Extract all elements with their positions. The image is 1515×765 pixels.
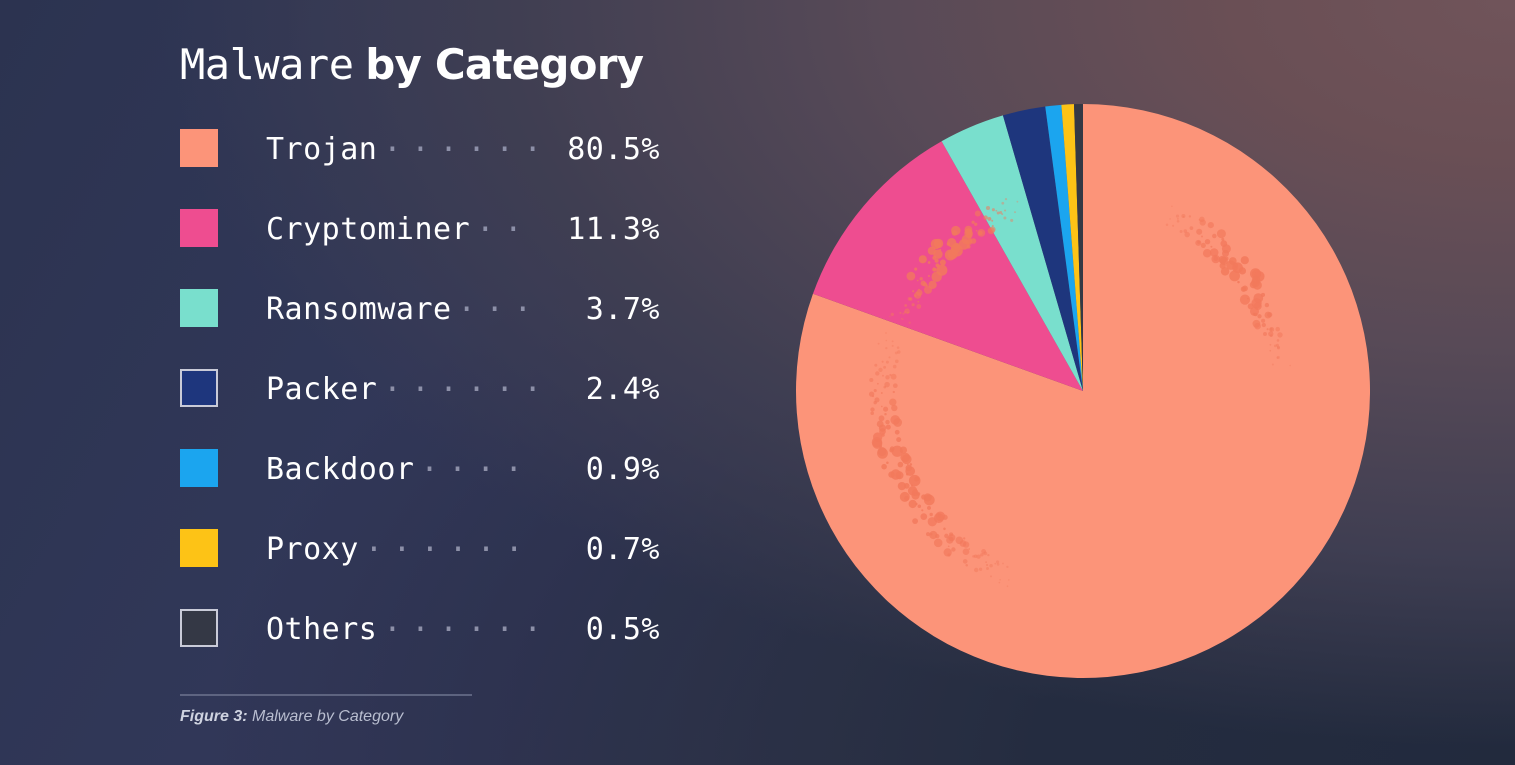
- legend-value: 0.5%: [542, 612, 660, 647]
- texture-dot: [1263, 332, 1267, 336]
- texture-dot: [895, 430, 900, 435]
- texture-dot: [899, 312, 901, 314]
- texture-dot: [928, 275, 930, 277]
- texture-dot: [947, 238, 956, 247]
- legend-label: Backdoor: [266, 452, 415, 487]
- texture-dot: [870, 411, 874, 415]
- texture-dot: [989, 564, 992, 567]
- texture-dot: [974, 554, 977, 557]
- legend-label: Proxy: [266, 532, 359, 567]
- texture-dot: [930, 513, 933, 516]
- texture-dot: [997, 212, 1000, 215]
- texture-dot: [979, 568, 982, 571]
- legend-dot-leader: [458, 289, 536, 319]
- texture-dot: [906, 465, 912, 471]
- texture-dot: [992, 208, 995, 211]
- texture-dot: [1253, 313, 1255, 315]
- texture-dot: [896, 437, 901, 442]
- legend-swatch-cryptominer: [180, 209, 218, 247]
- texture-dot: [909, 500, 917, 508]
- texture-dot: [886, 361, 889, 364]
- texture-dot: [901, 318, 903, 320]
- texture-dot: [888, 356, 890, 358]
- texture-dot: [997, 563, 1000, 566]
- pie-chart: [796, 104, 1370, 678]
- texture-dot: [889, 316, 891, 318]
- pie-chart-svg: [796, 104, 1370, 678]
- texture-dot: [883, 366, 886, 369]
- texture-dot: [1217, 229, 1226, 238]
- figure-caption: Figure 3: Malware by Category: [180, 708, 472, 726]
- texture-dot: [907, 272, 916, 281]
- texture-dot: [926, 532, 930, 536]
- texture-dot: [1267, 328, 1269, 330]
- texture-dot: [1270, 334, 1273, 337]
- texture-dot: [936, 263, 940, 267]
- texture-dot: [1181, 214, 1185, 218]
- texture-dot: [1274, 345, 1277, 348]
- legend-swatch-backdoor: [180, 449, 218, 487]
- texture-dot: [980, 553, 983, 556]
- texture-dot: [897, 346, 900, 349]
- texture-dot: [951, 226, 960, 235]
- texture-dot: [898, 462, 904, 468]
- texture-dot: [1250, 281, 1257, 288]
- texture-dot: [995, 210, 997, 212]
- legend-label: Packer: [266, 372, 377, 407]
- texture-dot: [949, 532, 953, 536]
- legend-value: 2.4%: [542, 372, 660, 407]
- legend-dot-leader: [476, 209, 536, 239]
- texture-dot: [874, 389, 877, 392]
- legend-label: Cryptominer: [266, 212, 470, 247]
- texture-dot: [1265, 312, 1272, 319]
- texture-dot: [870, 407, 874, 411]
- texture-dot: [885, 332, 887, 334]
- texture-dot: [912, 303, 915, 306]
- texture-dot: [916, 304, 921, 309]
- texture-dot: [928, 261, 931, 264]
- texture-dot: [919, 255, 927, 263]
- legend-row[interactable]: Packer2.4%: [180, 368, 660, 408]
- texture-dot: [956, 537, 964, 545]
- texture-dot: [895, 360, 899, 364]
- texture-dot: [996, 560, 999, 563]
- texture-dot: [885, 420, 889, 424]
- texture-dot: [895, 351, 898, 354]
- texture-dot: [1196, 229, 1202, 235]
- texture-dot: [1177, 220, 1180, 223]
- legend-text: Backdoor0.9%: [266, 449, 660, 487]
- texture-dot: [933, 249, 942, 258]
- texture-dot: [904, 308, 909, 313]
- texture-dot: [917, 301, 919, 303]
- texture-dot: [912, 290, 914, 292]
- texture-dot: [975, 211, 981, 217]
- texture-dot: [920, 277, 923, 280]
- texture-dot: [891, 374, 897, 380]
- texture-dot: [939, 249, 941, 251]
- figure-caption-block: Figure 3: Malware by Category: [180, 694, 472, 726]
- texture-dot: [879, 445, 882, 448]
- texture-dot: [1005, 198, 1007, 200]
- texture-dot: [1007, 585, 1009, 587]
- texture-dot: [1241, 256, 1249, 264]
- texture-dot: [928, 281, 936, 289]
- legend-swatch-ransomware: [180, 289, 218, 327]
- texture-dot: [971, 221, 974, 224]
- figure-number: Figure 3:: [180, 708, 248, 725]
- texture-dot: [1275, 327, 1280, 332]
- legend-text: Cryptominer11.3%: [266, 209, 660, 247]
- figure-caption-text: Malware by Category: [252, 708, 403, 725]
- texture-dot: [886, 462, 889, 465]
- legend-value: 3.7%: [542, 292, 660, 327]
- legend-text: Proxy0.7%: [266, 529, 660, 567]
- texture-dot: [914, 268, 917, 271]
- pie-slices: [796, 104, 1370, 678]
- texture-dot: [877, 421, 884, 428]
- texture-dot: [1257, 314, 1261, 318]
- texture-dot: [1265, 303, 1269, 307]
- texture-dot: [1205, 239, 1210, 244]
- legend-row[interactable]: Others0.5%: [180, 608, 660, 648]
- texture-dot: [898, 482, 906, 490]
- legend-value: 0.9%: [542, 452, 660, 487]
- texture-dot: [985, 561, 987, 563]
- texture-dot: [983, 215, 987, 219]
- texture-dot: [881, 464, 887, 470]
- texture-dot: [987, 554, 989, 556]
- texture-dot: [1222, 250, 1229, 257]
- texture-dot: [909, 297, 912, 300]
- texture-dot: [872, 395, 874, 397]
- texture-dot: [1014, 211, 1016, 213]
- texture-dot: [938, 514, 941, 517]
- legend-panel: Malware by Category Trojan80.5%Cryptomin…: [180, 44, 660, 648]
- legend-text: Packer2.4%: [266, 369, 660, 407]
- texture-dot: [869, 378, 873, 382]
- texture-dot: [991, 220, 993, 222]
- texture-dot: [912, 518, 918, 524]
- texture-dot: [1010, 219, 1013, 222]
- legend-label: Trojan: [266, 132, 377, 167]
- legend-row[interactable]: Trojan80.5%: [180, 128, 660, 168]
- texture-dot: [881, 392, 883, 394]
- texture-dot: [878, 368, 882, 372]
- texture-dot: [1200, 219, 1206, 225]
- texture-dot: [1001, 213, 1003, 215]
- texture-dot: [893, 418, 902, 427]
- legend-list: Trojan80.5%Cryptominer11.3%Ransomware3.7…: [180, 128, 660, 648]
- legend-dot-leader: [383, 129, 536, 159]
- texture-dot: [943, 528, 946, 531]
- legend-value: 11.3%: [542, 212, 660, 247]
- texture-dot: [927, 506, 931, 510]
- texture-dot: [914, 477, 919, 482]
- texture-dot: [874, 364, 877, 367]
- legend-text: Trojan80.5%: [266, 129, 660, 167]
- texture-dot: [878, 343, 880, 345]
- texture-dot: [1177, 218, 1179, 220]
- texture-dot: [883, 407, 888, 412]
- texture-dot: [963, 559, 968, 564]
- texture-dot: [1166, 224, 1169, 227]
- texture-dot: [944, 534, 948, 538]
- texture-dot: [963, 537, 965, 539]
- texture-dot: [891, 313, 894, 316]
- title-regular-part: Malware: [180, 40, 354, 89]
- texture-dot: [893, 391, 895, 393]
- texture-dot: [1289, 365, 1291, 367]
- texture-dot: [1239, 267, 1246, 274]
- texture-dot: [1221, 267, 1229, 275]
- texture-dot: [1017, 201, 1019, 203]
- texture-dot: [896, 471, 904, 479]
- texture-dot: [948, 545, 950, 547]
- texture-dot: [884, 382, 889, 387]
- texture-dot: [923, 282, 927, 286]
- texture-dot: [1254, 323, 1261, 330]
- texture-dot: [892, 345, 894, 347]
- texture-dot: [1276, 356, 1278, 358]
- texture-dot: [881, 406, 883, 408]
- texture-dot: [1171, 205, 1173, 207]
- texture-dot: [886, 425, 891, 430]
- texture-dot: [889, 399, 896, 406]
- texture-dot: [1261, 319, 1265, 323]
- texture-dot: [1242, 285, 1248, 291]
- texture-dot: [930, 533, 933, 536]
- legend-dot-leader: [421, 449, 537, 479]
- texture-dot: [976, 230, 978, 232]
- texture-dot: [879, 415, 885, 421]
- texture-dot: [1172, 225, 1174, 227]
- texture-dot: [902, 454, 912, 464]
- caption-divider: [180, 694, 472, 696]
- chart-slide: Malware by Category Trojan80.5%Cryptomin…: [0, 0, 1515, 765]
- texture-dot: [893, 365, 897, 369]
- texture-dot: [914, 294, 917, 297]
- texture-dot: [986, 567, 989, 570]
- texture-dot: [981, 549, 986, 554]
- texture-dot: [890, 446, 895, 451]
- texture-dot: [1006, 566, 1008, 568]
- texture-dot: [1184, 232, 1189, 237]
- legend-dot-leader: [365, 529, 536, 559]
- legend-swatch-packer: [180, 369, 218, 407]
- texture-dot: [909, 475, 921, 487]
- texture-dot: [881, 433, 884, 436]
- texture-dot: [918, 289, 920, 291]
- texture-dot: [967, 245, 971, 249]
- texture-dot: [951, 547, 955, 551]
- texture-dot: [1190, 226, 1194, 230]
- texture-dot: [921, 509, 923, 511]
- texture-dot: [1176, 215, 1179, 218]
- texture-dot: [1237, 281, 1239, 283]
- texture-dot: [1270, 328, 1273, 331]
- texture-dot: [1002, 563, 1004, 565]
- legend-row[interactable]: Ransomware3.7%: [180, 288, 660, 328]
- legend-value: 0.7%: [542, 532, 660, 567]
- texture-dot: [1008, 579, 1010, 581]
- legend-dot-leader: [383, 609, 536, 639]
- texture-dot: [908, 486, 917, 495]
- texture-dot: [944, 548, 952, 556]
- texture-dot: [987, 217, 991, 221]
- texture-dot: [885, 340, 887, 342]
- texture-dot: [940, 260, 946, 266]
- texture-dot: [934, 239, 943, 248]
- legend-value: 80.5%: [542, 132, 660, 167]
- legend-swatch-others: [180, 609, 218, 647]
- legend-row[interactable]: Backdoor0.9%: [180, 448, 660, 488]
- texture-dot: [1277, 346, 1280, 349]
- texture-dot: [1180, 230, 1183, 233]
- texture-dot: [963, 548, 970, 555]
- texture-dot: [1210, 246, 1212, 248]
- texture-dot: [882, 361, 884, 363]
- texture-dot: [974, 223, 977, 226]
- texture-dot: [884, 413, 886, 415]
- title-bold-part: by Category: [365, 40, 643, 89]
- page-title: Malware by Category: [180, 44, 660, 86]
- texture-dot: [921, 494, 926, 499]
- texture-dot: [892, 340, 894, 342]
- texture-dot: [965, 564, 968, 567]
- legend-row[interactable]: Cryptominer11.3%: [180, 208, 660, 248]
- texture-dot: [893, 383, 898, 388]
- texture-dot: [932, 267, 936, 271]
- texture-dot: [888, 471, 894, 477]
- texture-dot: [1169, 218, 1171, 220]
- texture-dot: [909, 322, 911, 324]
- texture-dot: [889, 374, 891, 376]
- texture-dot: [885, 347, 887, 349]
- texture-dot: [1003, 217, 1006, 220]
- texture-dot: [994, 563, 996, 565]
- legend-text: Others0.5%: [266, 609, 660, 647]
- texture-dot: [1213, 256, 1218, 261]
- texture-dot: [1212, 234, 1216, 238]
- legend-swatch-proxy: [180, 529, 218, 567]
- texture-dot: [918, 505, 922, 509]
- texture-dot: [990, 226, 996, 232]
- texture-dot: [1201, 243, 1206, 248]
- texture-dot: [999, 582, 1001, 584]
- texture-dot: [999, 579, 1001, 581]
- legend-text: Ransomware3.7%: [266, 289, 660, 327]
- texture-dot: [1201, 235, 1203, 237]
- texture-dot: [1004, 209, 1006, 211]
- texture-dot: [904, 304, 907, 307]
- texture-dot: [974, 568, 978, 572]
- texture-dot: [885, 375, 889, 379]
- legend-swatch-trojan: [180, 129, 218, 167]
- texture-dot: [990, 575, 992, 577]
- texture-dot: [920, 513, 927, 520]
- texture-dot: [1272, 363, 1274, 365]
- texture-dot: [917, 280, 919, 282]
- texture-dot: [900, 492, 910, 502]
- texture-dot: [971, 238, 977, 244]
- texture-dot: [1262, 323, 1266, 327]
- texture-dot: [1277, 339, 1280, 342]
- texture-dot: [1277, 332, 1282, 337]
- texture-dot: [965, 228, 972, 235]
- legend-dot-leader: [383, 369, 536, 399]
- texture-dot: [875, 371, 879, 375]
- legend-label: Ransomware: [266, 292, 452, 327]
- legend-label: Others: [266, 612, 377, 647]
- texture-dot: [1189, 215, 1191, 217]
- texture-dot: [1001, 202, 1004, 205]
- texture-dot: [1269, 350, 1271, 352]
- legend-row[interactable]: Proxy0.7%: [180, 528, 660, 568]
- texture-dot: [877, 383, 879, 385]
- texture-dot: [977, 229, 985, 237]
- texture-dot: [874, 397, 879, 402]
- texture-dot: [1197, 241, 1200, 244]
- texture-dot: [986, 564, 988, 566]
- texture-dot: [1208, 222, 1214, 228]
- texture-dot: [1240, 294, 1250, 304]
- texture-dot: [1270, 344, 1272, 346]
- texture-dot: [934, 539, 943, 548]
- texture-dot: [882, 375, 884, 377]
- texture-dot: [986, 206, 990, 210]
